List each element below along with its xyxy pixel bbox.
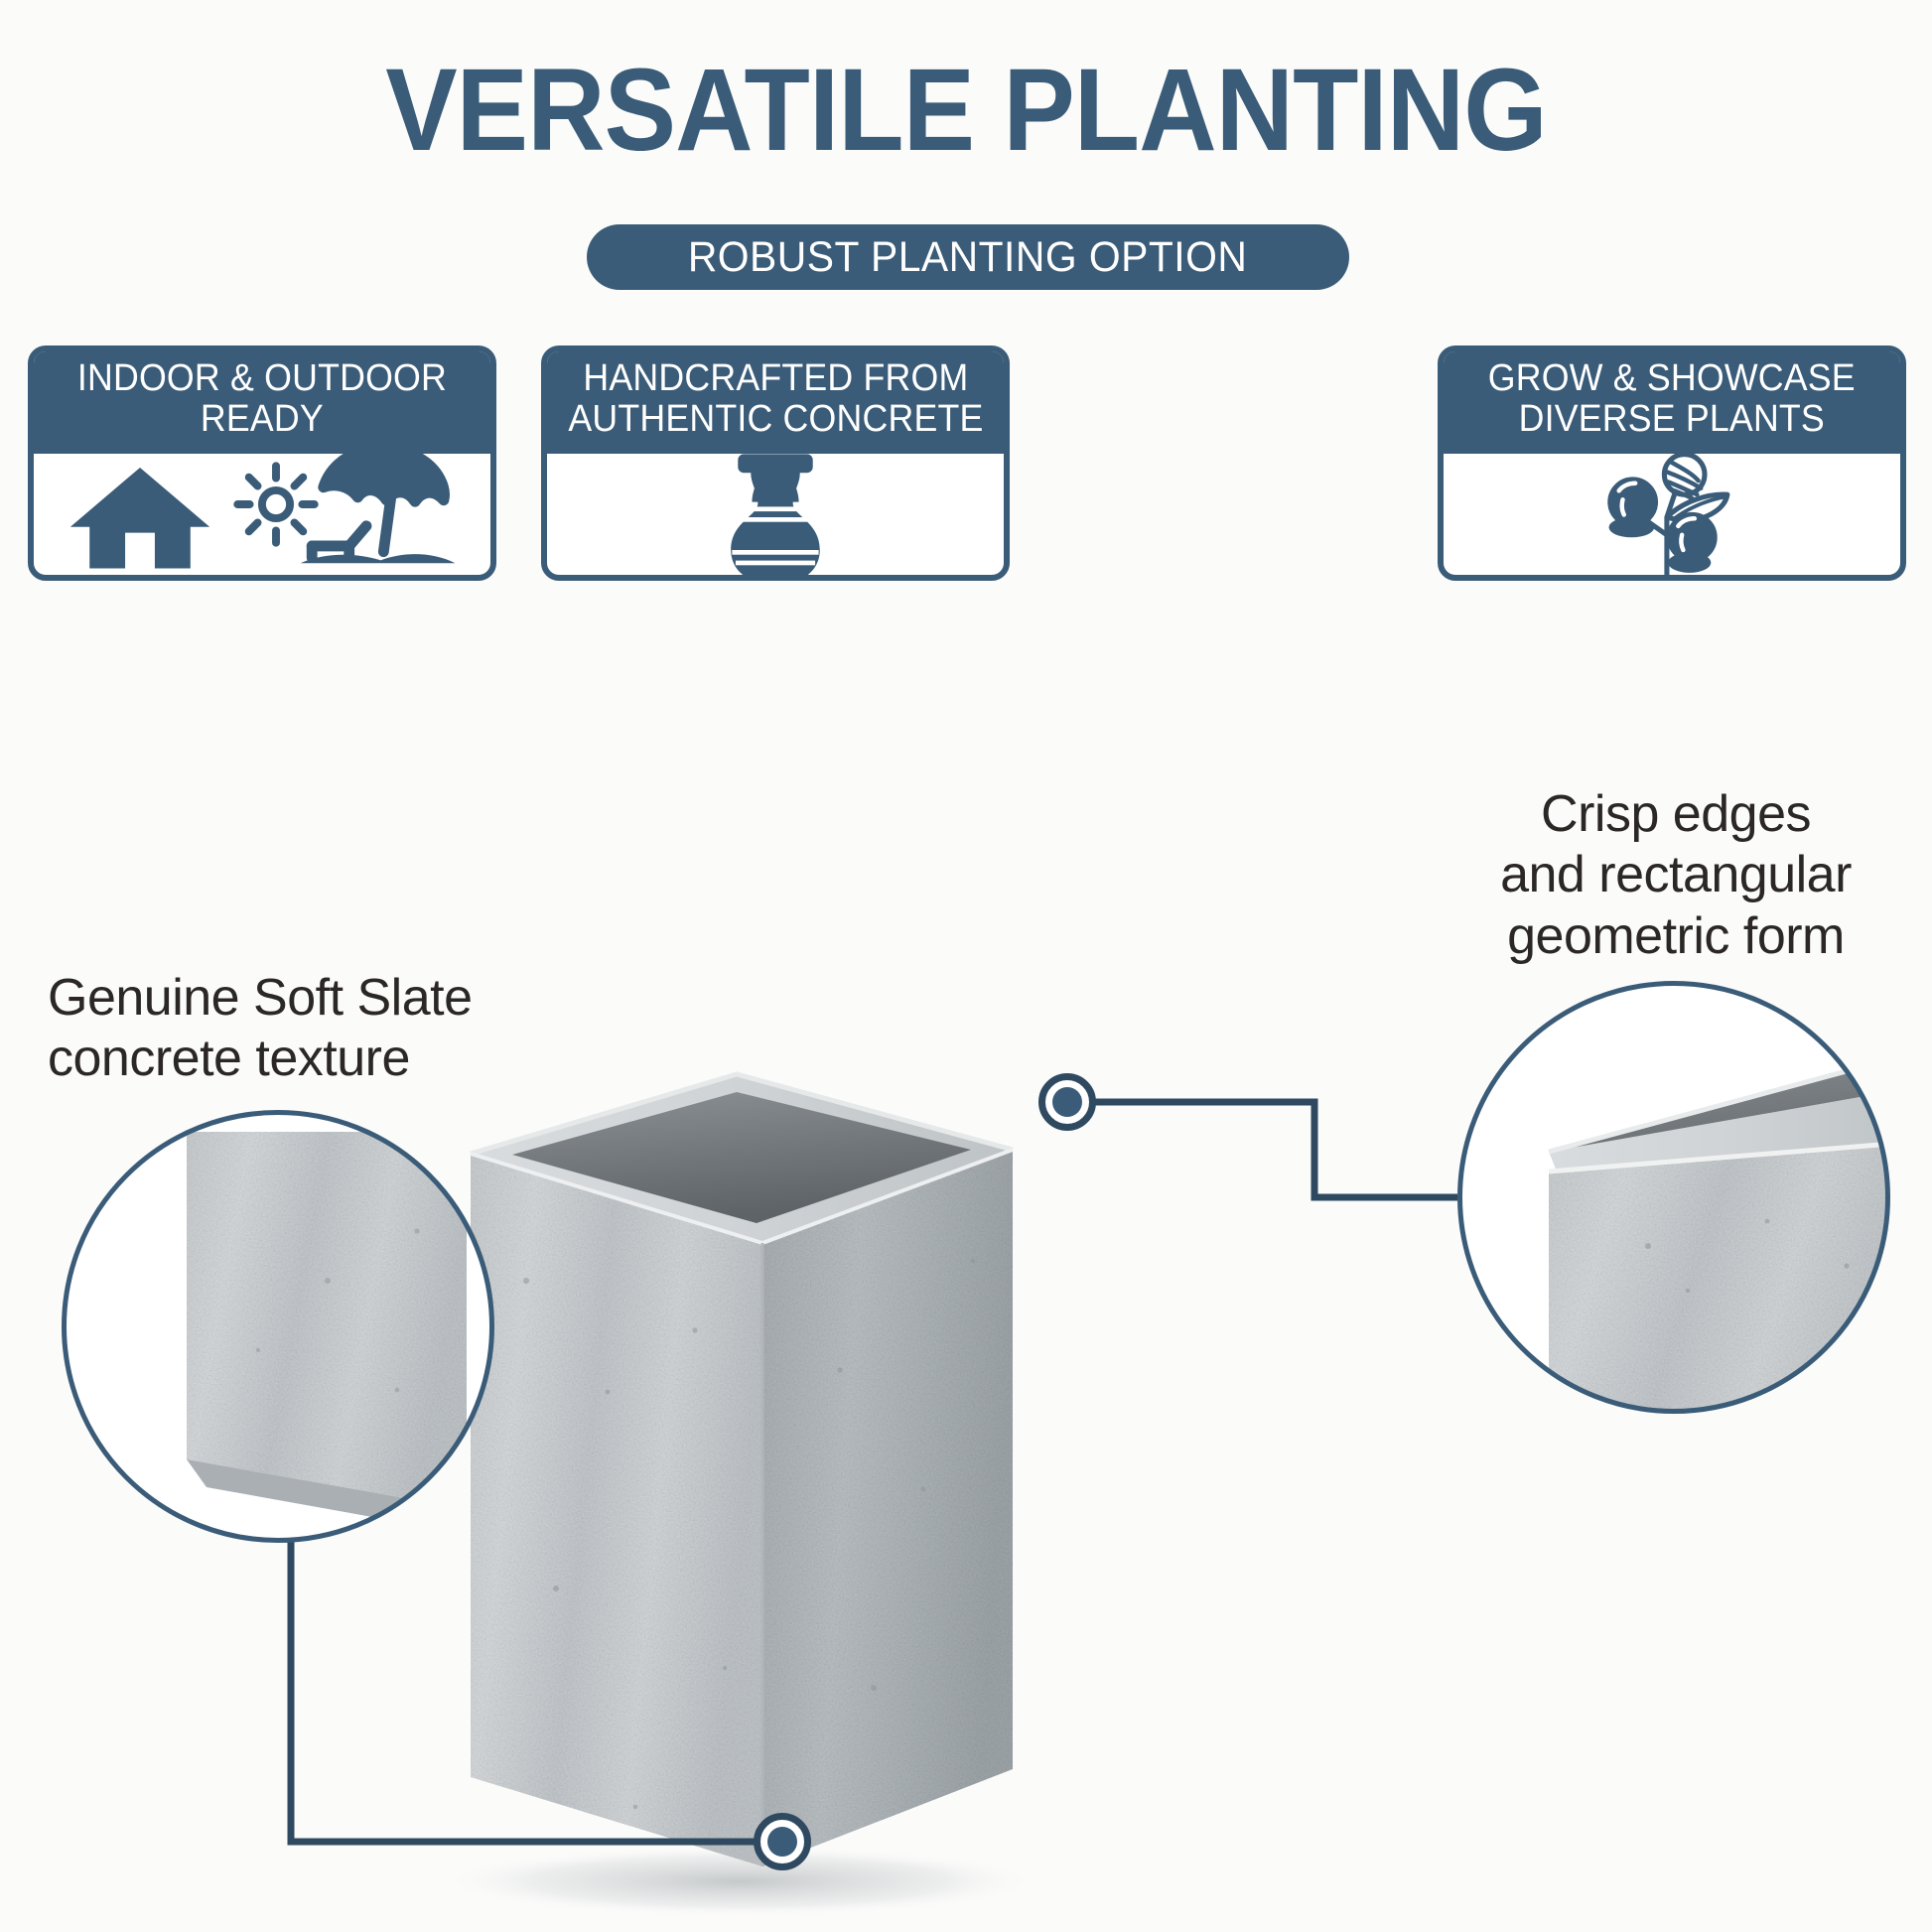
- callout-line: Genuine Soft Slate: [48, 969, 473, 1027]
- connector-line-edges: [1067, 1102, 1457, 1197]
- feature-card-authentic-concrete: HANDCRAFTED FROM AUTHENTIC CONCRETE: [541, 345, 1010, 581]
- feature-card-body: [1444, 459, 1900, 575]
- zoom-circle-edges: [1457, 981, 1890, 1414]
- feature-card-title-line: HANDCRAFTED FROM: [583, 357, 968, 399]
- zoom-circle-texture: [62, 1110, 494, 1543]
- feature-card-title-line: INDOOR & OUTDOOR: [77, 357, 447, 399]
- berry-plant-icon: [1597, 452, 1746, 582]
- callout-line: and rectangular: [1500, 846, 1852, 903]
- connector-line-texture: [291, 1539, 782, 1842]
- infographic-canvas: VERSATILE PLANTING ROBUST PLANTING OPTIO…: [0, 0, 1932, 1932]
- house-icon: [66, 462, 214, 573]
- vase-icon: [717, 452, 834, 582]
- callout-marker-texture[interactable]: [754, 1813, 811, 1870]
- page-title: VERSATILE PLANTING: [77, 52, 1855, 169]
- feature-card-header: GROW & SHOWCASE DIVERSE PLANTS: [1438, 345, 1906, 454]
- subtitle-badge: ROBUST PLANTING OPTION: [587, 224, 1349, 290]
- callout-line: concrete texture: [48, 1030, 410, 1087]
- feature-card-title-line: DIVERSE PLANTS: [1519, 398, 1825, 440]
- callout-marker-edges[interactable]: [1038, 1073, 1096, 1131]
- callout-label-texture: Genuine Soft Slate concrete texture: [48, 968, 514, 1090]
- feature-card-diverse-plants: GROW & SHOWCASE DIVERSE PLANTS: [1438, 345, 1906, 581]
- product-planter-photo: [442, 1074, 1037, 1917]
- beach-umbrella-icon: [300, 420, 459, 569]
- feature-card-title: GROW & SHOWCASE DIVERSE PLANTS: [1488, 358, 1856, 440]
- feature-card-body: [34, 459, 490, 575]
- feature-card-body: [547, 459, 1004, 575]
- callout-label-edges: Crisp edges and rectangular geometric fo…: [1428, 784, 1924, 967]
- feature-card-indoor-outdoor: INDOOR & OUTDOOR READY: [28, 345, 496, 581]
- subtitle-badge-label: ROBUST PLANTING OPTION: [688, 233, 1248, 282]
- feature-card-title-line: AUTHENTIC CONCRETE: [568, 398, 983, 440]
- callout-line: geometric form: [1507, 907, 1845, 965]
- callout-line: Crisp edges: [1541, 785, 1811, 843]
- feature-card-title-line: GROW & SHOWCASE: [1488, 357, 1856, 399]
- feature-card-title: HANDCRAFTED FROM AUTHENTIC CONCRETE: [568, 358, 983, 440]
- feature-card-header: HANDCRAFTED FROM AUTHENTIC CONCRETE: [541, 345, 1010, 454]
